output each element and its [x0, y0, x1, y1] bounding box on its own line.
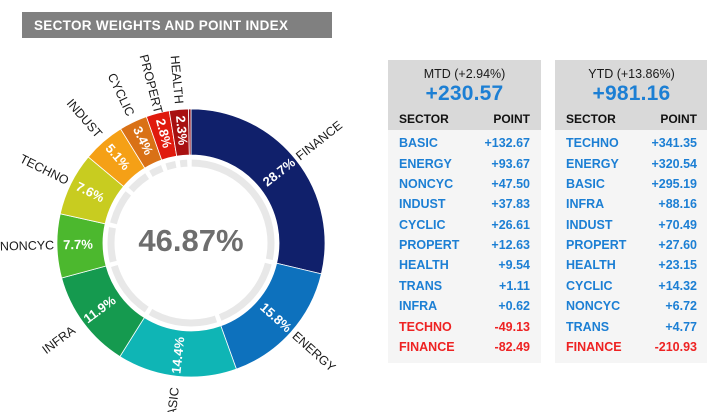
- row-point: +27.60: [658, 238, 697, 252]
- row-sector: BASIC: [399, 136, 438, 150]
- ytd-card-header: YTD (+13.86%) +981.16 SECTOR POINT: [555, 60, 707, 130]
- mtd-col-point: POINT: [493, 112, 530, 126]
- row-sector: INDUST: [566, 218, 613, 232]
- table-row[interactable]: PROPERT+27.60: [555, 235, 707, 255]
- row-sector: HEALTH: [566, 258, 616, 272]
- table-row[interactable]: NONCYC+47.50: [388, 174, 541, 194]
- row-sector: ENERGY: [399, 157, 452, 171]
- row-sector: TECHNO: [399, 320, 452, 334]
- table-row[interactable]: INDUST+70.49: [555, 215, 707, 235]
- row-point: +341.35: [651, 136, 697, 150]
- ytd-col-sector: SECTOR: [566, 112, 616, 126]
- ytd-col-point: POINT: [660, 112, 697, 126]
- mtd-total-value: +230.57: [388, 82, 541, 110]
- row-sector: FINANCE: [566, 340, 622, 354]
- row-sector: TRANS: [399, 279, 442, 293]
- row-sector: TECHNO: [566, 136, 619, 150]
- row-point: +295.19: [651, 177, 697, 191]
- table-row[interactable]: CYCLIC+26.61: [388, 215, 541, 235]
- slice-category-label: INDUST: [64, 96, 105, 141]
- slice-category-label: TECHNO: [17, 152, 71, 188]
- table-row[interactable]: TRANS+1.11: [388, 276, 541, 296]
- slice-category-label: CYCLIC: [105, 71, 137, 118]
- donut-center-value: 46.87%: [138, 223, 243, 258]
- table-row[interactable]: BASIC+295.19: [555, 174, 707, 194]
- ytd-row-list: TECHNO+341.35ENERGY+320.54BASIC+295.19IN…: [555, 130, 707, 363]
- slice-percent-label: 7.7%: [63, 237, 93, 253]
- ytd-card: YTD (+13.86%) +981.16 SECTOR POINT TECHN…: [555, 60, 707, 363]
- inner-ring-tick: [187, 159, 192, 167]
- row-sector: INFRA: [566, 197, 604, 211]
- ytd-column-headers: SECTOR POINT: [555, 110, 707, 130]
- row-sector: INDUST: [399, 197, 446, 211]
- row-point: +23.15: [658, 258, 697, 272]
- row-point: -82.49: [495, 340, 530, 354]
- page-title-bar: SECTOR WEIGHTS AND POINT INDEX: [22, 12, 332, 38]
- row-sector: BASIC: [566, 177, 605, 191]
- table-row[interactable]: TECHNO+341.35: [555, 133, 707, 153]
- row-sector: ENERGY: [566, 157, 619, 171]
- row-sector: HEALTH: [399, 258, 449, 272]
- row-sector: CYCLIC: [399, 218, 446, 232]
- table-row[interactable]: HEALTH+9.54: [388, 255, 541, 275]
- table-row[interactable]: CYCLIC+14.32: [555, 276, 707, 296]
- mtd-card: MTD (+2.94%) +230.57 SECTOR POINT BASIC+…: [388, 60, 541, 363]
- table-row[interactable]: NONCYC+6.72: [555, 296, 707, 316]
- table-row[interactable]: ENERGY+93.67: [388, 153, 541, 173]
- row-sector: NONCYC: [399, 177, 453, 191]
- ytd-period-label: YTD (+13.86%): [555, 64, 707, 82]
- table-row[interactable]: PROPERT+12.63: [388, 235, 541, 255]
- row-point: -49.13: [495, 320, 530, 334]
- table-row[interactable]: TRANS+4.77: [555, 316, 707, 336]
- page-title: SECTOR WEIGHTS AND POINT INDEX: [22, 18, 288, 33]
- point-index-tables: MTD (+2.94%) +230.57 SECTOR POINT BASIC+…: [388, 60, 707, 363]
- table-row[interactable]: FINANCE-210.93: [555, 337, 707, 357]
- slice-category-label: BASIC: [164, 387, 182, 412]
- row-point: +26.61: [491, 218, 530, 232]
- row-sector: NONCYC: [566, 299, 620, 313]
- slice-category-label: PROPERT: [137, 53, 166, 115]
- row-sector: TRANS: [566, 320, 609, 334]
- row-point: +320.54: [651, 157, 697, 171]
- slice-percent-label: 2.3%: [173, 115, 191, 146]
- table-row[interactable]: ENERGY+320.54: [555, 153, 707, 173]
- slice-category-label: NONCYC: [0, 238, 54, 253]
- row-point: +70.49: [658, 218, 697, 232]
- row-sector: PROPERT: [566, 238, 626, 252]
- row-point: +93.67: [491, 157, 530, 171]
- row-point: -210.93: [655, 340, 697, 354]
- table-row[interactable]: INDUST+37.83: [388, 194, 541, 214]
- table-row[interactable]: INFRA+0.62: [388, 296, 541, 316]
- dashboard-root: SECTOR WEIGHTS AND POINT INDEX 28.7%15.8…: [0, 0, 707, 415]
- mtd-period-label: MTD (+2.94%): [388, 64, 541, 82]
- row-point: +0.62: [498, 299, 530, 313]
- row-point: +9.54: [498, 258, 530, 272]
- table-row[interactable]: INFRA+88.16: [555, 194, 707, 214]
- slice-category-label: INFRA: [40, 323, 79, 357]
- slice-category-label: ENERGY: [289, 329, 338, 375]
- row-point: +37.83: [491, 197, 530, 211]
- ytd-total-value: +981.16: [555, 82, 707, 110]
- table-row[interactable]: FINANCE-82.49: [388, 337, 541, 357]
- row-sector: PROPERT: [399, 238, 459, 252]
- slice-category-label: HEALTH: [168, 55, 186, 104]
- table-row[interactable]: HEALTH+23.15: [555, 255, 707, 275]
- table-row[interactable]: TECHNO-49.13: [388, 316, 541, 336]
- row-sector: FINANCE: [399, 340, 455, 354]
- donut-svg: 28.7%15.8%14.4%11.9%7.7%7.6%5.1%3.4%2.8%…: [0, 52, 382, 412]
- row-point: +12.63: [491, 238, 530, 252]
- row-point: +47.50: [491, 177, 530, 191]
- mtd-column-headers: SECTOR POINT: [388, 110, 541, 130]
- row-point: +1.11: [499, 279, 530, 293]
- row-point: +132.67: [484, 136, 530, 150]
- sector-weights-donut-chart: 28.7%15.8%14.4%11.9%7.7%7.6%5.1%3.4%2.8%…: [0, 52, 382, 412]
- table-row[interactable]: BASIC+132.67: [388, 133, 541, 153]
- row-point: +4.77: [665, 320, 697, 334]
- mtd-row-list: BASIC+132.67ENERGY+93.67NONCYC+47.50INDU…: [388, 130, 541, 363]
- row-point: +14.32: [658, 279, 697, 293]
- row-sector: INFRA: [399, 299, 437, 313]
- mtd-col-sector: SECTOR: [399, 112, 449, 126]
- mtd-card-header: MTD (+2.94%) +230.57 SECTOR POINT: [388, 60, 541, 130]
- slice-category-label: FINANCE: [293, 118, 345, 163]
- row-sector: CYCLIC: [566, 279, 613, 293]
- row-point: +6.72: [665, 299, 697, 313]
- row-point: +88.16: [658, 197, 697, 211]
